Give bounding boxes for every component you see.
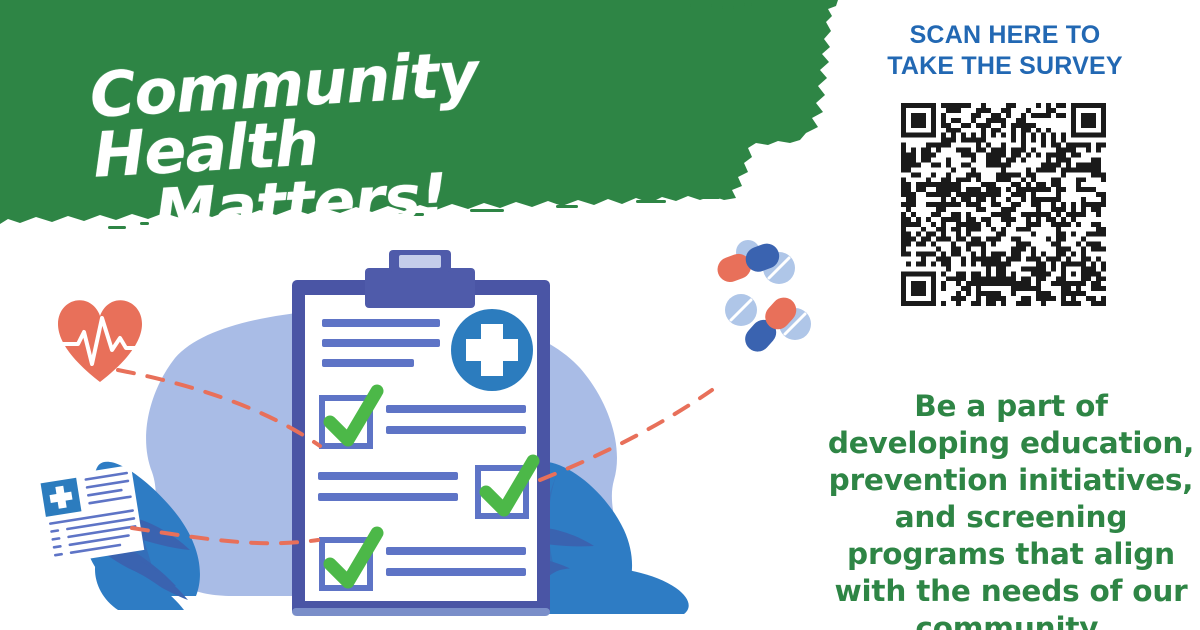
scan-heading-line2: TAKE THE SURVEY bbox=[887, 52, 1122, 80]
qr-code-canvas[interactable] bbox=[901, 103, 1106, 306]
clipboard-clip-window bbox=[399, 255, 441, 268]
medical-document-icon bbox=[36, 465, 144, 565]
green-banner: Community Health Matters! bbox=[0, 0, 850, 245]
clipboard-illustration bbox=[0, 240, 840, 630]
clipboard-clip bbox=[365, 268, 475, 308]
medical-cross-icon bbox=[451, 309, 533, 391]
heart-pulse-icon bbox=[52, 300, 148, 382]
scan-heading-line1: SCAN HERE TO bbox=[910, 21, 1101, 49]
pills-icon bbox=[714, 240, 811, 357]
poster-canvas: Community Health Matters! SCAN HERE TO T… bbox=[0, 0, 1200, 630]
blurb-text: Be a part of developing education, preve… bbox=[822, 388, 1200, 630]
qr-code[interactable] bbox=[901, 103, 1106, 306]
clipboard-shadow bbox=[292, 608, 550, 616]
scan-heading: SCAN HERE TO TAKE THE SURVEY bbox=[855, 20, 1155, 81]
